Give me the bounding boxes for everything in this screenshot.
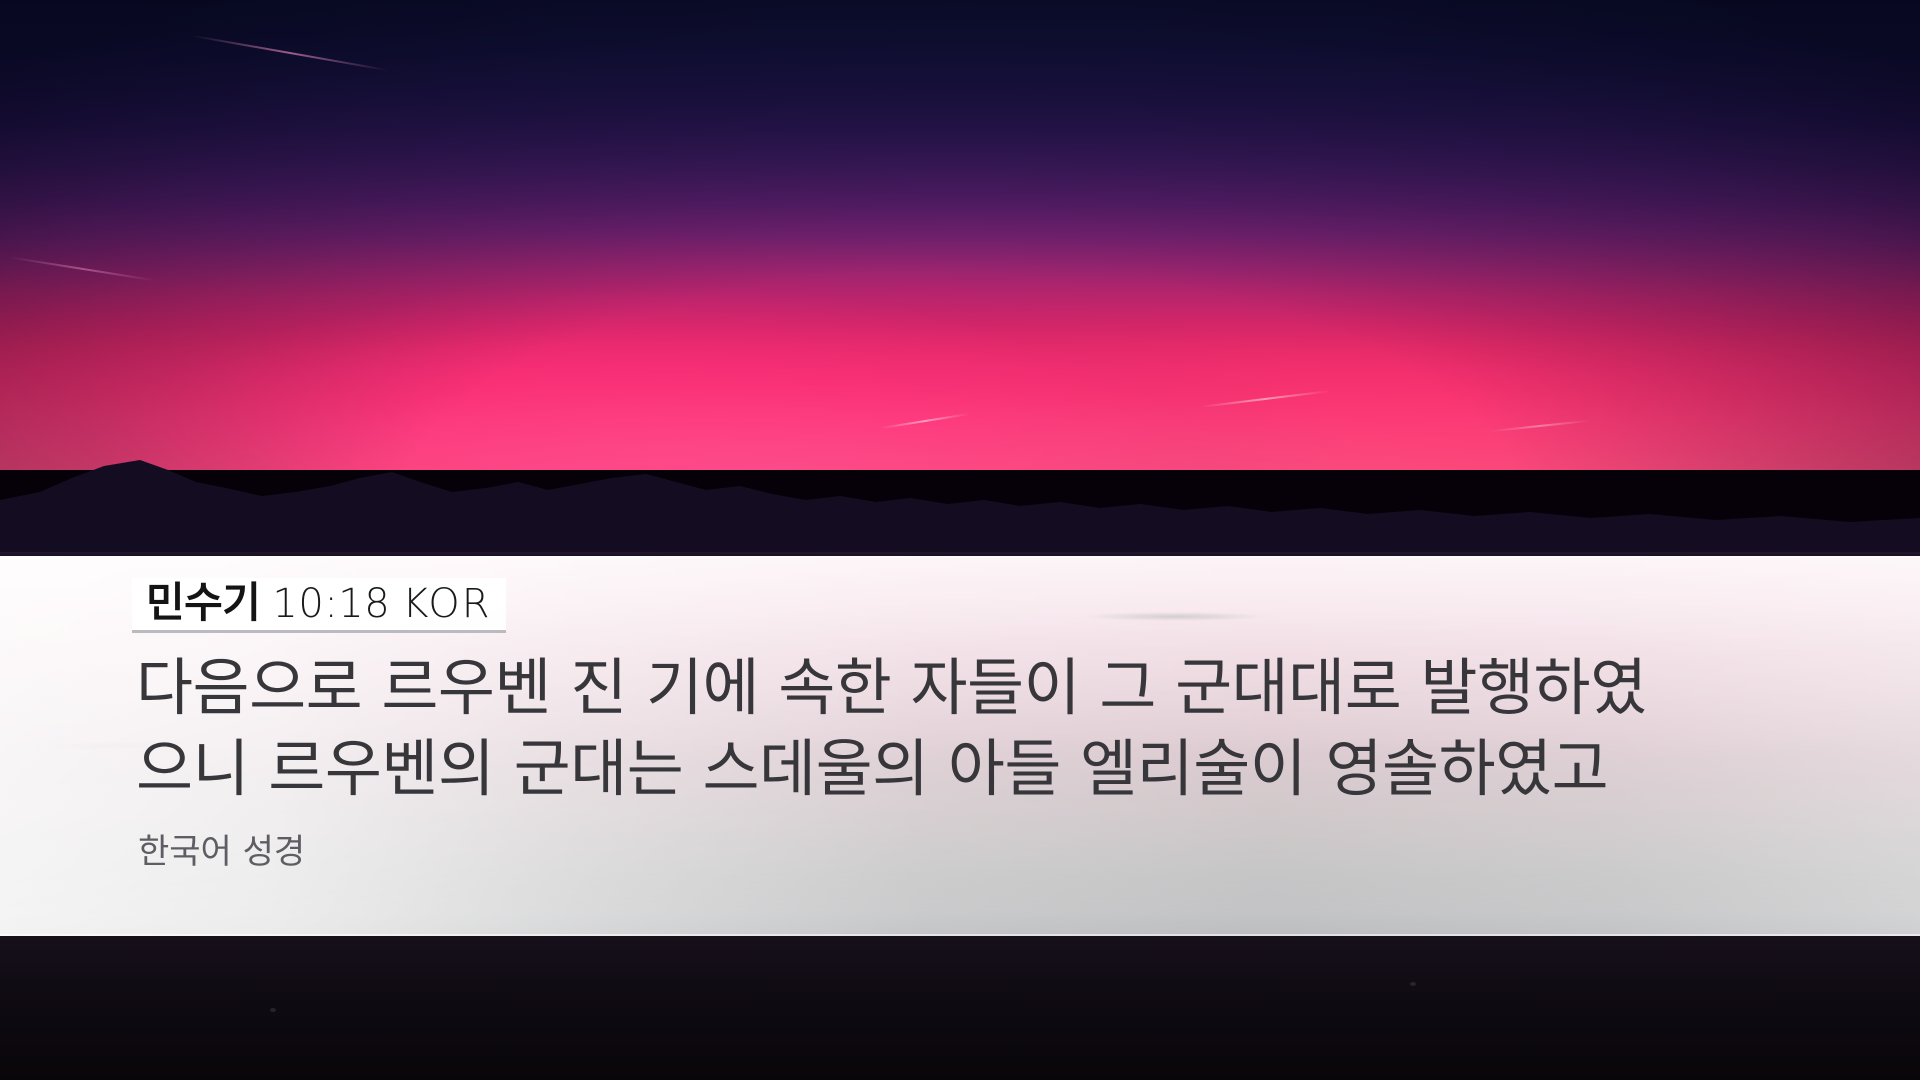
source-label: 한국어 성경 [138,824,305,873]
reference-chapter-verse: 10:18 [272,584,390,624]
scripture-image-card: 민수기 10:18 KOR 다음으로 르우벤 진 기에 속한 자들이 그 군대대… [0,0,1920,1080]
verse-reference-badge[interactable]: 민수기 10:18 KOR [132,578,506,633]
verse-text: 다음으로 르우벤 진 기에 속한 자들이 그 군대대로 발행하였 으니 르우벤의… [136,648,1836,809]
sky-vignette [0,0,1920,470]
reference-version-code: KOR [402,584,491,624]
verse-line: 으니 르우벤의 군대는 스데울의 아들 엘리술이 영솔하였고 [136,729,1836,810]
foreground-speck [1410,982,1416,986]
card-content: 민수기 10:18 KOR 다음으로 르우벤 진 기에 속한 자들이 그 군대대… [0,556,1920,936]
verse-line: 다음으로 르우벤 진 기에 속한 자들이 그 군대대로 발행하였 [136,648,1836,729]
reference-book-name: 민수기 [146,582,260,624]
foreground-speck [270,1008,276,1012]
mountain-ridge-near [0,448,1920,568]
dark-foreground [0,936,1920,1080]
